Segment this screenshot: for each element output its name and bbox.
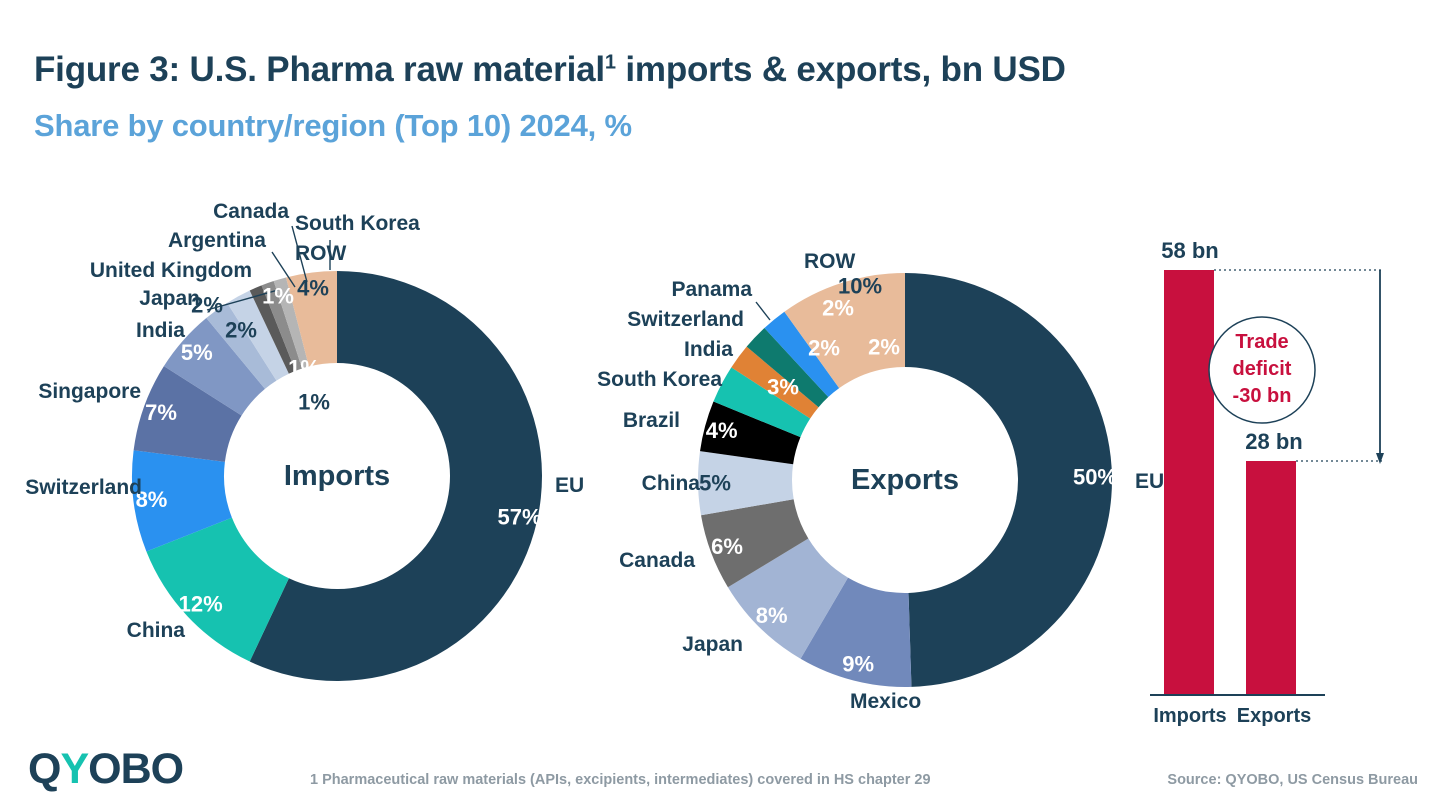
qyobo-logo: QYOBO — [28, 748, 183, 791]
bar-exports — [1246, 461, 1296, 695]
deficit-line-1: Trade — [1235, 331, 1288, 353]
category-label-south-korea: South Korea — [597, 368, 722, 391]
percent-label-india: 2% — [808, 336, 840, 361]
category-label-china: China — [642, 472, 701, 495]
percent-label-row: 4% — [297, 276, 329, 301]
trade-balance-bar-chart: Trade deficit -30 bn 58 bn 28 bn Imports… — [1150, 230, 1420, 720]
category-label-argentina: Argentina — [168, 229, 266, 252]
percent-label-mexico: 9% — [842, 652, 874, 677]
title-main: Figure 3: U.S. Pharma raw material — [34, 50, 605, 89]
category-label-canada: Canada — [213, 200, 289, 223]
title-footnote-marker: 1 — [605, 51, 616, 73]
deficit-arrow-head — [1376, 453, 1384, 464]
deficit-line-2: deficit — [1233, 358, 1292, 380]
category-label-canada: Canada — [619, 549, 695, 572]
bar-category-imports: Imports — [1153, 705, 1226, 727]
deficit-line-3: -30 bn — [1233, 385, 1292, 407]
logo-letter-y: Y — [60, 745, 88, 793]
bar-imports — [1164, 270, 1214, 695]
logo-letter-q: Q — [28, 745, 60, 793]
imports-donut-chart: 57%12%8%7%5%2%2%1%1%1%4% EUChinaSwitzerl… — [0, 190, 600, 730]
category-label-row: ROW — [804, 250, 856, 273]
percent-label-switzerland: 2% — [822, 296, 854, 321]
source-text: Source: QYOBO, US Census Bureau — [1167, 772, 1418, 788]
percent-label-canada: 6% — [711, 534, 743, 559]
bar-value-imports: 58 bn — [1161, 238, 1218, 263]
percent-label-singapore: 7% — [145, 400, 177, 425]
exports-donut-chart: 50%9%8%6%5%4%3%2%2%2%10% EUMexicoJapanCa… — [570, 190, 1190, 730]
percent-label-south-korea: 3% — [767, 375, 799, 400]
figure-root: Figure 3: U.S. Pharma raw material1 impo… — [0, 0, 1440, 810]
page-title: Figure 3: U.S. Pharma raw material1 impo… — [34, 50, 1066, 90]
percent-label-canada: 1% — [288, 356, 320, 381]
category-label-row: ROW — [295, 242, 347, 265]
percent-label-eu: 50% — [1073, 465, 1117, 490]
percent-label-japan: 2% — [225, 318, 257, 343]
percent-label-china: 5% — [699, 470, 731, 495]
category-label-switzerland: Switzerland — [25, 476, 142, 499]
category-label-singapore: Singapore — [38, 380, 141, 403]
bar-chart-svg: Trade deficit -30 bn 58 bn 28 bn Imports… — [1150, 230, 1420, 720]
imports-donut-svg: 57%12%8%7%5%2%2%1%1%1%4% EUChinaSwitzerl… — [0, 190, 600, 730]
percent-label-japan: 8% — [756, 603, 788, 628]
category-label-japan: Japan — [682, 633, 743, 656]
category-label-mexico: Mexico — [850, 690, 921, 713]
category-label-south-korea: South Korea — [295, 212, 420, 235]
bar-value-exports: 28 bn — [1245, 429, 1302, 454]
category-label-panama: Panama — [671, 278, 752, 301]
percent-label-china: 12% — [179, 592, 223, 617]
category-label-brazil: Brazil — [623, 409, 680, 432]
percent-label-panama: 2% — [868, 335, 900, 360]
category-label-china: China — [127, 619, 186, 642]
title-rest: imports & exports, bn USD — [616, 50, 1066, 89]
category-label-switzerland: Switzerland — [627, 308, 744, 331]
footnote-text: 1 Pharmaceutical raw materials (APIs, ex… — [310, 772, 931, 788]
percent-label-eu: 57% — [497, 504, 541, 529]
percent-label-brazil: 4% — [706, 418, 738, 443]
exports-donut-svg: 50%9%8%6%5%4%3%2%2%2%10% EUMexicoJapanCa… — [570, 190, 1190, 730]
category-label-india: India — [136, 319, 185, 342]
logo-letters-obo: OBO — [88, 745, 183, 793]
category-label-india: India — [684, 338, 733, 361]
exports-center-label: Exports — [851, 464, 959, 496]
page-subtitle: Share by country/region (Top 10) 2024, % — [34, 108, 632, 144]
leader-line — [756, 302, 770, 320]
category-label-united-kingdom: United Kingdom — [90, 259, 252, 282]
category-label-japan: Japan — [139, 287, 200, 310]
bar-category-exports: Exports — [1237, 705, 1311, 727]
imports-center-label: Imports — [284, 460, 390, 492]
percent-label-argentina: 1% — [262, 284, 294, 309]
percent-label-india: 5% — [181, 340, 213, 365]
percent-label-south-korea: 1% — [298, 390, 330, 415]
percent-label-row: 10% — [838, 274, 882, 299]
exports-leader-lines — [756, 302, 770, 320]
